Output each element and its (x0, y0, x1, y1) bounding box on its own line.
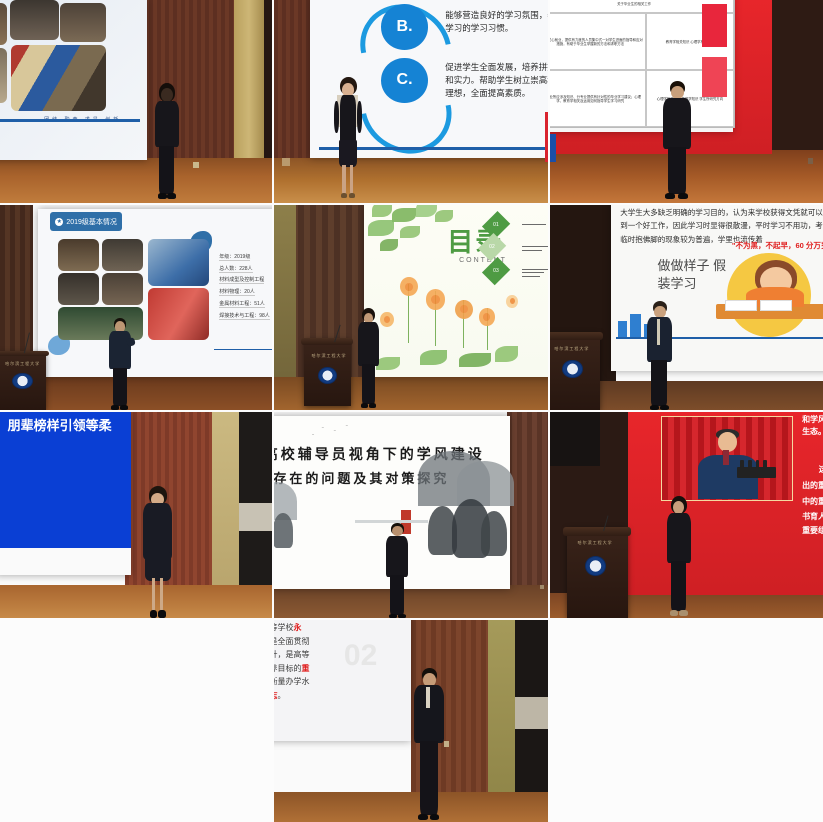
podium: 哈尔滨工程大学 (550, 332, 600, 410)
red-slide-line-1: 和学风 (802, 414, 823, 425)
photo-cell-2[interactable]: B. C. 能够营造良好的学习氛围，养成自主学习的学习习惯。 促进学生全面发展，… (274, 0, 548, 203)
podium: 哈尔滨工程大学 (0, 351, 46, 410)
info-line-3: 材料成型及控制工程 (219, 276, 264, 284)
info-line-5: 金属材料工程：51人 (219, 300, 265, 308)
photo-8-image: ~ ~ ~ ~ 高校辅导员视角下的学风建设 存在的问题及其对策探究 (274, 412, 548, 618)
photo-cell-10-empty (0, 620, 272, 822)
photo-11-image: 02 风建设是高等学校永 恒的主题，是全面贯彻 党的教育方针，是高等 学校实现培… (274, 620, 548, 822)
photo-cell-9[interactable]: 和学风 生态。 这 出的重 中的重 书育人 重要组 哈尔滨工程大学 (550, 412, 823, 618)
photo-9-image: 和学风 生态。 这 出的重 中的重 书育人 重要组 哈尔滨工程大学 (550, 412, 823, 618)
photo-cell-11[interactable]: 02 风建设是高等学校永 恒的主题，是全面贯彻 党的教育方针，是高等 学校实现培… (274, 620, 548, 822)
photo-cell-1[interactable]: 团结 勤奋 求是 创新 (0, 0, 272, 203)
photo-5-image: 目录 CONTENT 01 02 03 (274, 205, 548, 410)
photo-cell-7[interactable]: 、朋辈榜样引领等柔 (0, 412, 272, 618)
podium: 哈尔滨工程大学 (567, 527, 628, 618)
podium: 哈尔滨工程大学 (304, 338, 351, 406)
red-slide-line-6: 书育人 (802, 511, 823, 522)
bullet-text-b: 能够营造良好的学习氛围，养成自主学习的学习习惯。 (445, 9, 548, 35)
white-slide-text: 风建设是高等学校永 恒的主题，是全面贯彻 党的教育方针，是高等 学校实现培养目标… (274, 621, 399, 703)
info-line-4: 材料物理：20人 (219, 288, 255, 296)
info-line-1: 年级：2019级 (219, 253, 250, 261)
photo-cell-3[interactable]: 关于毕业生的相关工作 了解、关心就业，提供有力度的人员集中式一对学生进面的指导和… (550, 0, 823, 203)
slide-blue-text: 、朋辈榜样引领等柔 (0, 415, 112, 434)
slide-highlight-text: "不为黑，不起早，60 分万岁，61分" (732, 240, 823, 251)
photo-4-image: ★ 2019级基本情况 年级：2019级 总人数：228人 材料成型及控制工程 … (0, 205, 272, 410)
photo-2-image: B. C. 能够营造良好的学习氛围，养成自主学习的学习习惯。 促进学生全面发展，… (274, 0, 548, 203)
photo-cell-4[interactable]: ★ 2019级基本情况 年级：2019级 总人数：228人 材料成型及控制工程 … (0, 205, 272, 410)
photo-7-image: 、朋辈榜样引领等柔 (0, 412, 272, 618)
red-slide-line-4: 出的重 (802, 480, 823, 491)
red-slide-line-2: 生态。 (802, 426, 823, 437)
seal-stamp (401, 510, 411, 520)
photo-cell-5[interactable]: 目录 CONTENT 01 02 03 (274, 205, 548, 410)
slide-overlay-text: 做做样子 假装学习 (657, 257, 727, 293)
leader-photo (661, 416, 793, 500)
info-line-6: 焊接技术与工程：98人 (219, 312, 270, 320)
photo-grid: 团结 勤奋 求是 创新 B. (0, 0, 823, 816)
medal-icon: ★ (55, 218, 63, 226)
photo-cell-8[interactable]: ~ ~ ~ ~ 高校辅导员视角下的学风建设 存在的问题及其对策探究 (274, 412, 548, 618)
photo-6-image: 大学生大多缺乏明确的学习目的，认为来学校获得文凭就可以找到一个好工作，因此学习时… (550, 205, 823, 410)
photo-cell-12-empty (550, 620, 823, 822)
red-slide-line-5: 中的重 (802, 496, 823, 507)
table-cell-r2c1: 了解专业所应涉及知识、分专业提供有针对性的毕业学习建议；心理学、教育学相关及运用… (550, 70, 646, 127)
bullet-text-c: 促进学生全面发展，培养拼搏的精神和实力。帮助学生树立崇高和远大的理想，全面提高素… (445, 61, 548, 101)
slide-badge: ★ 2019级基本情况 (50, 212, 122, 230)
photo-1-image: 团结 勤奋 求是 创新 (0, 0, 272, 203)
photo-3-image: 关于毕业生的相关工作 了解、关心就业，提供有力度的人员集中式一对学生进面的指导和… (550, 0, 823, 203)
bullet-marker-c: C. (381, 58, 428, 103)
bullet-marker-b: B. (381, 4, 428, 49)
photo-cell-6[interactable]: 大学生大多缺乏明确的学习目的，认为来学校获得文凭就可以找到一个好工作，因此学习时… (550, 205, 823, 410)
table-cell-r1c1: 了解、关心就业，提供有力度的人员集中式一对学生进面的指导和应对措施，有助于毕业生… (550, 13, 646, 70)
red-slide-line-3: 这 (819, 464, 823, 475)
info-line-2: 总人数：228人 (219, 265, 252, 273)
red-slide-line-7: 重要组 (802, 525, 823, 536)
